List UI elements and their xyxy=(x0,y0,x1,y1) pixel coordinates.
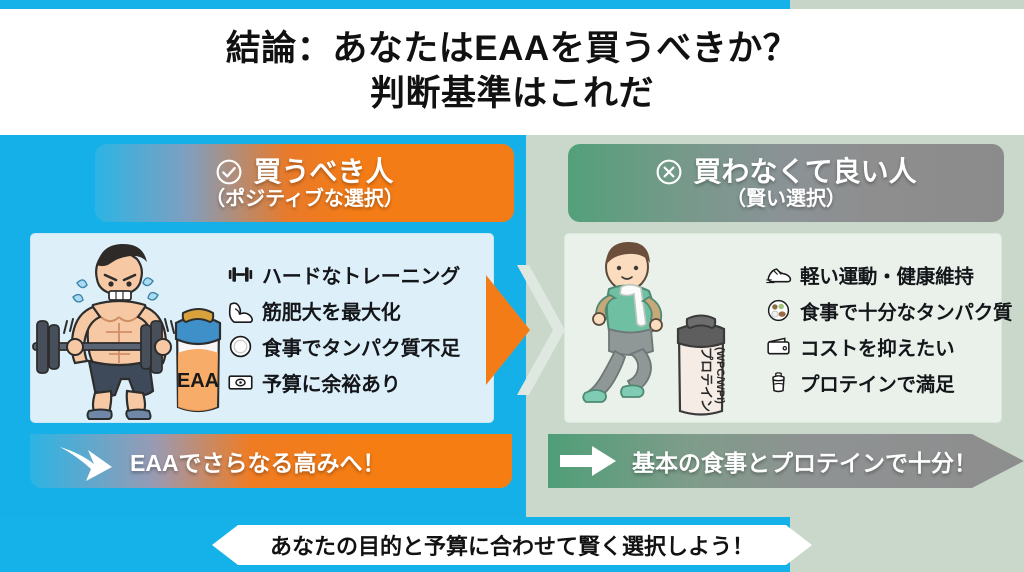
right-bullet-list: 軽い運動・健康維持 食事で十分なタンパク質 xyxy=(765,260,1012,397)
list-item-label: 筋肥大を最大化 xyxy=(262,296,401,325)
left-cta-banner: EAAでさらなる高みへ！ xyxy=(30,434,512,488)
jogging-man-with-towel: プロテイン (WPC/WPI) xyxy=(565,235,765,421)
list-item: 食事で十分なタンパク質 xyxy=(765,296,1012,325)
right-cta-label: 基本の食事とプロテインで十分！ xyxy=(632,444,977,478)
list-item-label: 軽い運動・健康維持 xyxy=(800,260,974,289)
straight-arrow-icon xyxy=(558,444,620,478)
left-panel-buy: 買うべき人 （ポジティブな選択） xyxy=(0,135,526,517)
shaker-bottle-icon xyxy=(765,370,792,395)
chevron-right-icon xyxy=(486,275,530,385)
right-panel-header: 買わなくて良い人 （賢い選択） xyxy=(568,144,1004,222)
left-header-title-row: 買うべき人 xyxy=(215,157,393,187)
footer: あなたの目的と予算に合わせて賢く選択しよう！ xyxy=(0,517,1024,572)
right-cta-banner: 基本の食事とプロテインで十分！ xyxy=(548,434,1024,488)
left-cta-label: EAAでさらなる高みへ！ xyxy=(130,444,386,478)
list-item: 筋肥大を最大化 xyxy=(227,296,493,325)
right-header-title-row: 買わなくて良い人 xyxy=(655,157,916,187)
right-content-card: プロテイン (WPC/WPI) 軽い運動・健康維持 xyxy=(564,233,1002,423)
list-item: 食事でタンパク質不足 xyxy=(227,332,493,361)
top-strip-left xyxy=(0,0,790,9)
right-header-subtitle: （賢い選択） xyxy=(726,187,846,211)
left-header-title: 買うべき人 xyxy=(253,157,393,187)
left-bullet-list: ハードなトレーニング 筋肥大を最大化 xyxy=(227,260,493,397)
list-item-label: コストを抑えたい xyxy=(800,332,954,361)
footer-ribbon-label: あなたの目的と予算に合わせて賢く選択しよう！ xyxy=(270,529,754,561)
dumbbell-icon xyxy=(227,262,254,287)
right-panel-skip: 買わなくて良い人 （賢い選択） xyxy=(526,135,1024,517)
list-item-label: ハードなトレーニング xyxy=(262,260,460,289)
footer-ribbon: あなたの目的と予算に合わせて賢く選択しよう！ xyxy=(212,525,812,565)
muscular-man-lifting-barbell: EAA xyxy=(31,235,227,421)
list-item: ハードなトレーニング xyxy=(227,260,493,289)
flexed-bicep-icon xyxy=(227,298,254,323)
list-item-label: 予算に余裕あり xyxy=(262,368,401,397)
top-strip-right xyxy=(790,0,1024,9)
curved-arrow-icon xyxy=(58,441,120,481)
banknote-icon xyxy=(227,370,254,395)
wallet-icon xyxy=(765,334,792,359)
eaa-shaker-illustration: EAA xyxy=(176,309,220,411)
protein-shaker-illustration: プロテイン (WPC/WPI) xyxy=(678,316,726,415)
left-content-card: EAA xyxy=(30,233,494,423)
title-line-2: 判断基準はこれだ xyxy=(370,73,654,116)
footer-bg-right xyxy=(790,517,1024,572)
list-item-label: 食事で十分なタンパク質 xyxy=(800,296,1012,325)
empty-plate-icon xyxy=(227,334,254,359)
title-line-1: 結論：あなたはEAAを買うべきか？ xyxy=(226,28,798,71)
svg-text:(WPC/WPI): (WPC/WPI) xyxy=(714,347,726,404)
protein-shaker-label: プロテイン xyxy=(699,347,714,412)
running-shoe-icon xyxy=(765,262,792,287)
meal-plate-icon xyxy=(765,298,792,323)
list-item: コストを抑えたい xyxy=(765,332,1012,361)
x-circle-icon xyxy=(655,158,683,186)
list-item-label: プロテインで満足 xyxy=(800,368,954,397)
right-header-title: 買わなくて良い人 xyxy=(693,157,916,187)
left-panel-header: 買うべき人 （ポジティブな選択） xyxy=(95,144,514,222)
list-item-label: 食事でタンパク質不足 xyxy=(262,332,460,361)
list-item: 軽い運動・健康維持 xyxy=(765,260,1012,289)
left-header-subtitle: （ポジティブな選択） xyxy=(205,187,404,211)
list-item: 予算に余裕あり xyxy=(227,368,493,397)
infographic-canvas: 結論：あなたはEAAを買うべきか？ 判断基準はこれだ 買うべき人 （ポジティブな… xyxy=(0,0,1024,572)
check-circle-icon xyxy=(215,158,243,186)
eaa-shaker-label: EAA xyxy=(177,370,219,392)
title-band: 結論：あなたはEAAを買うべきか？ 判断基準はこれだ xyxy=(0,9,1024,135)
list-item: プロテインで満足 xyxy=(765,368,1012,397)
